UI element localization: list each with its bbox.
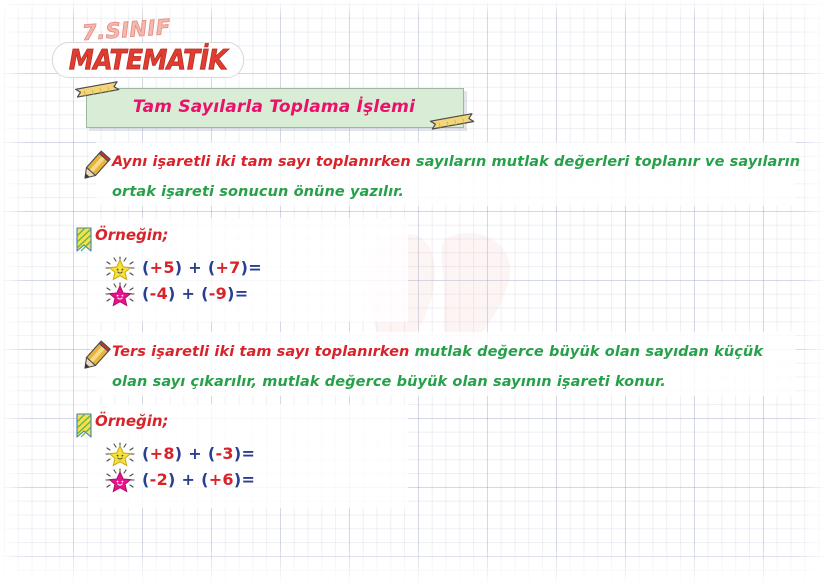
bookmark-icon [76, 413, 92, 439]
paren-open: ( [142, 258, 150, 277]
equation-text: (-2) + (+6)= [142, 470, 255, 489]
equation-operator: + [176, 284, 201, 303]
equation-text: (+5) + (+7)= [142, 258, 262, 277]
equals-sign: = [248, 258, 262, 277]
equals-sign: = [241, 470, 255, 489]
pencil-icon [78, 150, 112, 184]
yellow-smiling-star-icon [104, 256, 136, 282]
worksheet-page: 7.SINIF MATEMATİK Tam Sayılarla Toplama … [0, 0, 828, 586]
equation-text: (+8) + (-3)= [142, 444, 255, 463]
paren-open: ( [142, 470, 150, 489]
bookmark-icon [76, 227, 92, 253]
page-title: Tam Sayılarla Toplama İşlemi [86, 88, 462, 126]
equation-text: (-4) + (-9)= [142, 284, 248, 303]
equation-number: +6 [209, 470, 234, 489]
pink-star-icon [104, 282, 136, 308]
equation-number: -4 [150, 284, 168, 303]
paren-close: ) [227, 284, 235, 303]
rule-text-2: Ters işaretli iki tam sayı toplanırken m… [112, 337, 802, 397]
paren-open: ( [201, 470, 209, 489]
equation-number: -2 [150, 470, 168, 489]
paren-close: ) [168, 470, 176, 489]
rule-text-1: Aynı işaretli iki tam sayı toplanırken s… [112, 147, 802, 207]
pencil-icon [78, 340, 112, 374]
equals-sign: = [235, 284, 249, 303]
tape-strip-icon [72, 80, 128, 114]
logo-subject-text: MATEMATİK [62, 43, 234, 75]
equation-number: -3 [215, 444, 233, 463]
pink-star-icon [104, 468, 136, 494]
equation-operator: + [176, 470, 201, 489]
paren-open: ( [142, 284, 150, 303]
equation-number: +8 [150, 444, 175, 463]
paren-close: ) [168, 284, 176, 303]
equals-sign: = [241, 444, 255, 463]
tape-strip-icon [426, 108, 482, 142]
rule-red-1: Aynı işaretli iki tam sayı toplanırken [112, 154, 416, 170]
equation-operator: + [182, 444, 207, 463]
paren-open: ( [201, 284, 209, 303]
example-label-2: Örneğin; [95, 412, 169, 430]
title-banner: Tam Sayılarla Toplama İşlemi [74, 88, 474, 128]
equation-number: +5 [150, 258, 175, 277]
equation-operator: + [182, 258, 207, 277]
equation-number: -9 [209, 284, 227, 303]
logo-grade-text: 7.SINIF [81, 15, 171, 45]
rule-red-2: Ters işaretli iki tam sayı toplanırken [112, 344, 415, 360]
yellow-smiling-star-icon [104, 442, 136, 468]
paren-open: ( [142, 444, 150, 463]
brand-logo: 7.SINIF MATEMATİK [52, 18, 252, 80]
example-label-1: Örneğin; [95, 226, 169, 244]
equation-number: +7 [215, 258, 240, 277]
